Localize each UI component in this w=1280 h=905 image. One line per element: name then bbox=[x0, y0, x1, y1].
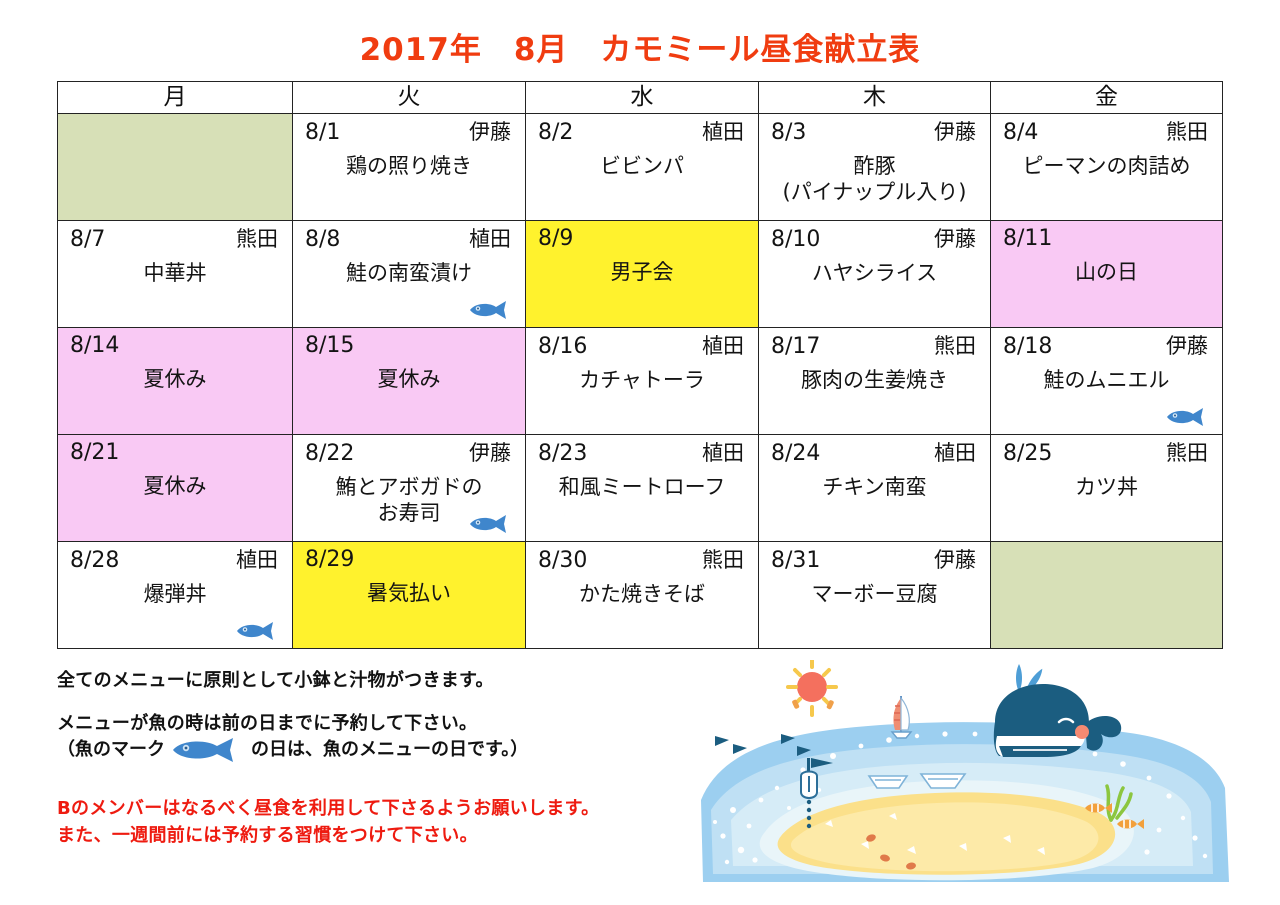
summer-beach-whale-illustration bbox=[693, 660, 1238, 900]
cell-date: 8/2 bbox=[536, 119, 573, 147]
cell-date: 8/25 bbox=[1001, 440, 1052, 468]
calendar-cell-inner: 8/25熊田カツ丼 bbox=[991, 435, 1222, 541]
calendar-cell-8-15[interactable]: 8/15夏休み bbox=[293, 328, 526, 435]
weekday-header-thu: 木 bbox=[759, 82, 991, 114]
calendar-cell-inner: 8/2植田ビビンパ bbox=[526, 114, 758, 220]
calendar-cell-header: 8/17熊田 bbox=[769, 332, 980, 361]
note-line-2: メニューが魚の時は前の日までに予約して下さい。 bbox=[57, 711, 717, 737]
cell-staff-name: 伊藤 bbox=[934, 546, 980, 574]
calendar-cell-header: 8/8植田 bbox=[303, 225, 515, 254]
calendar-cell-8-14[interactable]: 8/14夏休み bbox=[58, 328, 293, 435]
calendar-cell-header: 8/7熊田 bbox=[68, 225, 282, 254]
calendar-cell-header: 8/24植田 bbox=[769, 439, 980, 468]
cell-menu-text: ビビンパ bbox=[536, 153, 748, 180]
calendar-cell-header: 8/14 bbox=[68, 332, 282, 360]
calendar-week-row: 8/7熊田中華丼8/8植田鮭の南蛮漬け8/9男子会8/10伊藤ハヤシライス8/1… bbox=[58, 221, 1223, 328]
cell-menu-text: 男子会 bbox=[536, 259, 748, 286]
calendar-cell-inner: 8/1伊藤鶏の照り焼き bbox=[293, 114, 525, 220]
cell-date: 8/16 bbox=[536, 333, 587, 361]
calendar-cell-inner: 8/16植田カチャトーラ bbox=[526, 328, 758, 434]
calendar-cell-empty bbox=[991, 542, 1223, 649]
cell-menu-text: カチャトーラ bbox=[536, 367, 748, 394]
calendar-cell-inner: 8/14夏休み bbox=[58, 328, 292, 434]
page-title: 2017年 8月 カモミール昼食献立表 bbox=[0, 24, 1280, 69]
calendar-cell-8-17[interactable]: 8/17熊田豚肉の生姜焼き bbox=[759, 328, 991, 435]
calendar-cell-header: 8/22伊藤 bbox=[303, 439, 515, 468]
calendar-cell-8-8[interactable]: 8/8植田鮭の南蛮漬け bbox=[293, 221, 526, 328]
cell-staff-name: 伊藤 bbox=[469, 439, 515, 467]
cell-menu-text: 夏休み bbox=[68, 473, 282, 500]
calendar-cell-inner: 8/28植田爆弾丼 bbox=[58, 542, 292, 648]
cell-date: 8/8 bbox=[303, 226, 340, 254]
calendar-cell-inner: 8/15夏休み bbox=[293, 328, 525, 434]
cell-staff-name: 植田 bbox=[702, 332, 748, 360]
fish-icon bbox=[469, 515, 513, 533]
cell-menu-text: ピーマンの肉詰め bbox=[1001, 153, 1212, 180]
cell-menu-text: 鮭のムニエル bbox=[1001, 367, 1212, 394]
calendar-cell-header: 8/21 bbox=[68, 439, 282, 467]
cell-date: 8/14 bbox=[68, 332, 119, 360]
calendar-cell-header: 8/1伊藤 bbox=[303, 118, 515, 147]
calendar-cell-empty bbox=[58, 114, 293, 221]
calendar-cell-inner: 8/30熊田かた焼きそば bbox=[526, 542, 758, 648]
calendar-cell-header: 8/30熊田 bbox=[536, 546, 748, 575]
calendar-cell-header: 8/29 bbox=[303, 546, 515, 574]
cell-staff-name: 植田 bbox=[702, 118, 748, 146]
cell-date: 8/3 bbox=[769, 119, 806, 147]
cell-menu-text: 鮭の南蛮漬け bbox=[303, 260, 515, 287]
calendar-cell-8-29[interactable]: 8/29暑気払い bbox=[293, 542, 526, 649]
sailboat-icon bbox=[892, 696, 911, 738]
note-line-3-prefix: （魚のマーク bbox=[57, 737, 165, 763]
cell-date: 8/31 bbox=[769, 547, 820, 575]
calendar-cell-inner: 8/17熊田豚肉の生姜焼き bbox=[759, 328, 990, 434]
cell-staff-name: 伊藤 bbox=[1166, 332, 1212, 360]
cell-menu-text: マーボー豆腐 bbox=[769, 581, 980, 608]
cell-menu-text: チキン南蛮 bbox=[769, 474, 980, 501]
calendar-cell-inner: 8/22伊藤鮪とアボガドの お寿司 bbox=[293, 435, 525, 541]
cell-staff-name: 熊田 bbox=[236, 225, 282, 253]
calendar-cell-8-24[interactable]: 8/24植田チキン南蛮 bbox=[759, 435, 991, 542]
cell-staff-name: 熊田 bbox=[934, 332, 980, 360]
cell-menu-text: 夏休み bbox=[68, 366, 282, 393]
cell-date: 8/21 bbox=[68, 439, 119, 467]
calendar-cell-header: 8/28植田 bbox=[68, 546, 282, 575]
cell-menu-text: 鶏の照り焼き bbox=[303, 153, 515, 180]
cell-menu-text: カツ丼 bbox=[1001, 474, 1212, 501]
calendar-cell-8-31[interactable]: 8/31伊藤マーボー豆腐 bbox=[759, 542, 991, 649]
fish-icon bbox=[236, 622, 280, 640]
note-line-3: （魚のマーク の日は、魚のメニューの日です。） bbox=[57, 737, 717, 763]
calendar-cell-inner: 8/7熊田中華丼 bbox=[58, 221, 292, 327]
cell-menu-text: 中華丼 bbox=[68, 260, 282, 287]
note-line-1: 全てのメニューに原則として小鉢と汁物がつきます。 bbox=[57, 668, 717, 694]
calendar-cell-8-7[interactable]: 8/7熊田中華丼 bbox=[58, 221, 293, 328]
calendar-cell-8-16[interactable]: 8/16植田カチャトーラ bbox=[526, 328, 759, 435]
cell-staff-name: 熊田 bbox=[702, 546, 748, 574]
calendar-cell-8-2[interactable]: 8/2植田ビビンパ bbox=[526, 114, 759, 221]
fish-icon bbox=[171, 737, 245, 763]
calendar-body: 8/1伊藤鶏の照り焼き8/2植田ビビンパ8/3伊藤酢豚 (パイナップル入り)8/… bbox=[58, 114, 1223, 649]
calendar-cell-8-23[interactable]: 8/23植田和風ミートローフ bbox=[526, 435, 759, 542]
calendar-cell-header: 8/25熊田 bbox=[1001, 439, 1212, 468]
calendar-week-row: 8/28植田爆弾丼8/29暑気払い8/30熊田かた焼きそば8/31伊藤マーボー豆… bbox=[58, 542, 1223, 649]
calendar-cell-inner: 8/21夏休み bbox=[58, 435, 292, 541]
cell-menu-text: 暑気払い bbox=[303, 580, 515, 607]
calendar-cell-8-30[interactable]: 8/30熊田かた焼きそば bbox=[526, 542, 759, 649]
calendar-cell-8-22[interactable]: 8/22伊藤鮪とアボガドの お寿司 bbox=[293, 435, 526, 542]
calendar-cell-inner: 8/31伊藤マーボー豆腐 bbox=[759, 542, 990, 648]
cell-date: 8/11 bbox=[1001, 225, 1052, 253]
cell-date: 8/22 bbox=[303, 440, 354, 468]
calendar-cell-inner: 8/3伊藤酢豚 (パイナップル入り) bbox=[759, 114, 990, 220]
calendar-cell-header: 8/2植田 bbox=[536, 118, 748, 147]
calendar-week-row: 8/21夏休み8/22伊藤鮪とアボガドの お寿司8/23植田和風ミートローフ8/… bbox=[58, 435, 1223, 542]
calendar-cell-8-28[interactable]: 8/28植田爆弾丼 bbox=[58, 542, 293, 649]
cell-menu-text: 酢豚 (パイナップル入り) bbox=[769, 153, 980, 205]
cell-staff-name: 植田 bbox=[469, 225, 515, 253]
cell-date: 8/17 bbox=[769, 333, 820, 361]
calendar-cell-inner: 8/9男子会 bbox=[526, 221, 758, 327]
cell-menu-text: かた焼きそば bbox=[536, 581, 748, 608]
calendar-cell-inner: 8/8植田鮭の南蛮漬け bbox=[293, 221, 525, 327]
cell-staff-name: 伊藤 bbox=[469, 118, 515, 146]
cell-staff-name: 伊藤 bbox=[934, 225, 980, 253]
calendar-cell-header: 8/3伊藤 bbox=[769, 118, 980, 147]
cell-staff-name: 植田 bbox=[236, 546, 282, 574]
cell-staff-name: 植田 bbox=[934, 439, 980, 467]
calendar-cell-inner: 8/11山の日 bbox=[991, 221, 1222, 327]
fish-icon bbox=[469, 301, 513, 319]
cell-staff-name: 熊田 bbox=[1166, 439, 1212, 467]
calendar-cell-8-1[interactable]: 8/1伊藤鶏の照り焼き bbox=[293, 114, 526, 221]
cell-date: 8/4 bbox=[1001, 119, 1038, 147]
notes-section: 全てのメニューに原則として小鉢と汁物がつきます。 メニューが魚の時は前の日までに… bbox=[57, 668, 717, 763]
calendar-cell-8-4[interactable]: 8/4熊田ピーマンの肉詰め bbox=[991, 114, 1223, 221]
calendar-cell-8-21[interactable]: 8/21夏休み bbox=[58, 435, 293, 542]
cell-menu-text: 豚肉の生姜焼き bbox=[769, 367, 980, 394]
weekday-header-row: 月 火 水 木 金 bbox=[58, 82, 1223, 114]
weekday-header-mon: 月 bbox=[58, 82, 293, 114]
notes-red-section: Bのメンバーはなるべく昼食を利用して下さるようお願いします。 また、一週間前には… bbox=[57, 795, 757, 849]
calendar-cell-header: 8/18伊藤 bbox=[1001, 332, 1212, 361]
calendar-cell-header: 8/9 bbox=[536, 225, 748, 253]
calendar-cell-header: 8/31伊藤 bbox=[769, 546, 980, 575]
cell-staff-name: 熊田 bbox=[1166, 118, 1212, 146]
cell-menu-text: 夏休み bbox=[303, 366, 515, 393]
weekday-header-wed: 水 bbox=[526, 82, 759, 114]
calendar-cell-header: 8/16植田 bbox=[536, 332, 748, 361]
sun-icon bbox=[788, 660, 836, 715]
cell-date: 8/18 bbox=[1001, 333, 1052, 361]
cell-date: 8/15 bbox=[303, 332, 354, 360]
menu-calendar-table: 月 火 水 木 金 8/1伊藤鶏の照り焼き8/2植田ビビンパ8/3伊藤酢豚 (パ… bbox=[57, 81, 1223, 649]
calendar-cell-8-25[interactable]: 8/25熊田カツ丼 bbox=[991, 435, 1223, 542]
note-red-line-1: Bのメンバーはなるべく昼食を利用して下さるようお願いします。 bbox=[57, 795, 757, 822]
calendar-cell-8-18[interactable]: 8/18伊藤鮭のムニエル bbox=[991, 328, 1223, 435]
calendar-cell-inner: 8/10伊藤ハヤシライス bbox=[759, 221, 990, 327]
calendar-cell-header: 8/4熊田 bbox=[1001, 118, 1212, 147]
calendar-cell-inner: 8/29暑気払い bbox=[293, 542, 525, 648]
cell-menu-text: 山の日 bbox=[1001, 259, 1212, 286]
whale-icon bbox=[994, 664, 1121, 757]
cell-date: 8/24 bbox=[769, 440, 820, 468]
calendar-cell-8-9[interactable]: 8/9男子会 bbox=[526, 221, 759, 328]
cell-menu-text: 爆弾丼 bbox=[68, 581, 282, 608]
cell-date: 8/7 bbox=[68, 226, 105, 254]
note-red-line-2: また、一週間前には予約する習慣をつけて下さい。 bbox=[57, 822, 757, 849]
cell-menu-text: ハヤシライス bbox=[769, 260, 980, 287]
calendar-cell-inner: 8/4熊田ピーマンの肉詰め bbox=[991, 114, 1222, 220]
cell-staff-name: 伊藤 bbox=[934, 118, 980, 146]
cell-date: 8/29 bbox=[303, 546, 354, 574]
cell-date: 8/30 bbox=[536, 547, 587, 575]
cell-date: 8/28 bbox=[68, 547, 119, 575]
calendar-cell-8-3[interactable]: 8/3伊藤酢豚 (パイナップル入り) bbox=[759, 114, 991, 221]
calendar-cell-header: 8/23植田 bbox=[536, 439, 748, 468]
calendar-cell-8-10[interactable]: 8/10伊藤ハヤシライス bbox=[759, 221, 991, 328]
cell-date: 8/23 bbox=[536, 440, 587, 468]
calendar-cell-inner: 8/24植田チキン南蛮 bbox=[759, 435, 990, 541]
calendar-cell-header: 8/11 bbox=[1001, 225, 1212, 253]
calendar-week-row: 8/1伊藤鶏の照り焼き8/2植田ビビンパ8/3伊藤酢豚 (パイナップル入り)8/… bbox=[58, 114, 1223, 221]
calendar-week-row: 8/14夏休み8/15夏休み8/16植田カチャトーラ8/17熊田豚肉の生姜焼き8… bbox=[58, 328, 1223, 435]
calendar-cell-8-11[interactable]: 8/11山の日 bbox=[991, 221, 1223, 328]
cell-staff-name: 植田 bbox=[702, 439, 748, 467]
calendar-cell-header: 8/10伊藤 bbox=[769, 225, 980, 254]
calendar-cell-inner: 8/18伊藤鮭のムニエル bbox=[991, 328, 1222, 434]
weekday-header-tue: 火 bbox=[293, 82, 526, 114]
cell-date: 8/1 bbox=[303, 119, 340, 147]
note-line-3-suffix: の日は、魚のメニューの日です。） bbox=[251, 737, 528, 763]
weekday-header-fri: 金 bbox=[991, 82, 1223, 114]
calendar-cell-header: 8/15 bbox=[303, 332, 515, 360]
cell-date: 8/9 bbox=[536, 225, 573, 253]
cell-menu-text: 和風ミートローフ bbox=[536, 474, 748, 501]
calendar-cell-inner: 8/23植田和風ミートローフ bbox=[526, 435, 758, 541]
cell-date: 8/10 bbox=[769, 226, 820, 254]
fish-icon bbox=[1166, 408, 1210, 426]
